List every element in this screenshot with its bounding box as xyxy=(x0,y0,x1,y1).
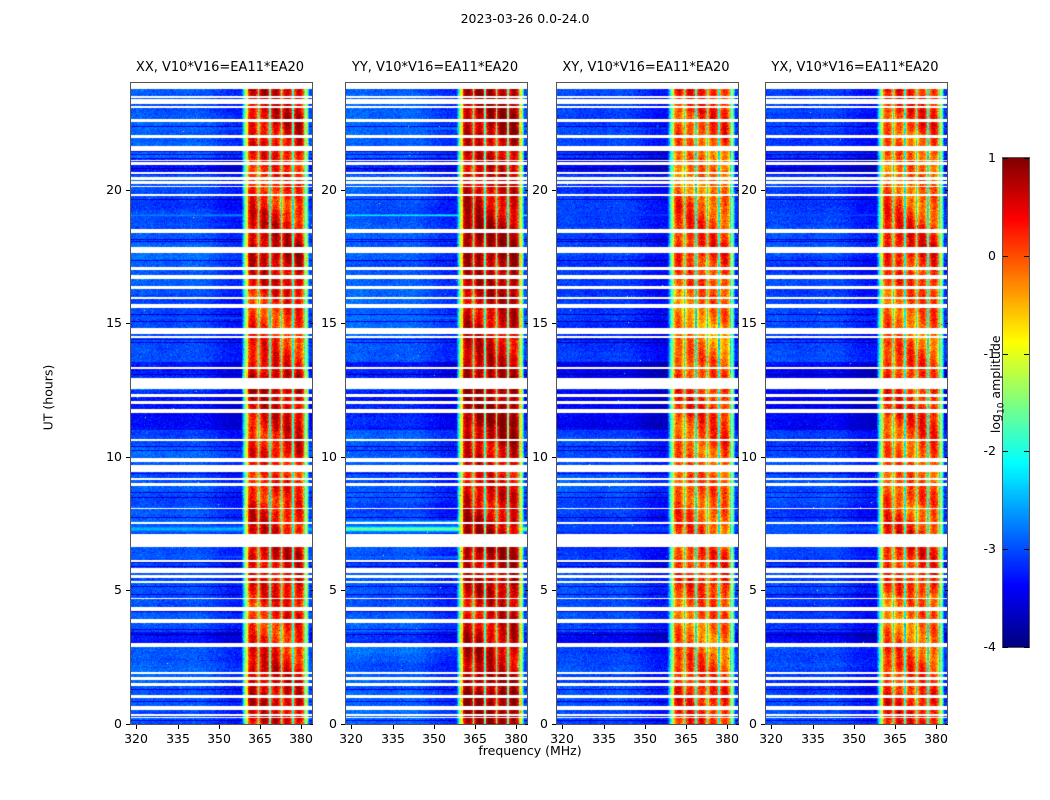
waterfall-panel-xx[interactable] xyxy=(130,82,313,725)
x-tick-label: 350 xyxy=(623,731,667,746)
x-tick-mark xyxy=(771,725,772,729)
x-tick-mark xyxy=(351,725,352,729)
y-tick-label: 10 xyxy=(713,449,757,464)
colorbar-tick-mark xyxy=(1003,354,1008,355)
x-tick-mark xyxy=(686,725,687,729)
x-tick-mark xyxy=(434,725,435,729)
y-tick-mark xyxy=(126,190,130,191)
y-tick-label: 20 xyxy=(78,182,122,197)
y-tick-mark xyxy=(761,190,765,191)
y-tick-label: 5 xyxy=(713,582,757,597)
colorbar-tick-label: 0 xyxy=(962,248,996,263)
figure-canvas: 2023-03-26 0.0-24.0 XX, V10*V16=EA11*EA2… xyxy=(0,0,1050,800)
y-tick-label: 20 xyxy=(713,182,757,197)
x-tick-label: 365 xyxy=(873,731,917,746)
x-tick-mark xyxy=(260,725,261,729)
colorbar-tick-mark-right xyxy=(1024,647,1029,648)
colorbar-tick-mark-right xyxy=(1024,354,1029,355)
y-tick-mark xyxy=(761,323,765,324)
x-tick-label: 335 xyxy=(371,731,415,746)
y-tick-label: 15 xyxy=(504,315,548,330)
colorbar-tick-mark xyxy=(1003,158,1008,159)
y-tick-mark-right xyxy=(945,724,948,725)
panel-title-yy: YY, V10*V16=EA11*EA20 xyxy=(325,60,545,75)
y-tick-mark xyxy=(341,724,345,725)
y-tick-mark xyxy=(761,724,765,725)
panel-title-yx: YX, V10*V16=EA11*EA20 xyxy=(745,60,965,75)
colorbar-tick-label: -1 xyxy=(962,346,996,361)
y-tick-mark xyxy=(126,724,130,725)
y-tick-mark xyxy=(341,457,345,458)
x-tick-label: 350 xyxy=(412,731,456,746)
colorbar-tick-mark-right xyxy=(1024,451,1029,452)
x-tick-mark xyxy=(178,725,179,729)
y-tick-mark xyxy=(552,457,556,458)
y-axis-label: UT (hours) xyxy=(41,328,56,468)
waterfall-panel-yy[interactable] xyxy=(345,82,528,725)
figure-suptitle: 2023-03-26 0.0-24.0 xyxy=(0,11,1050,26)
x-tick-label: 380 xyxy=(494,731,538,746)
colorbar-tick-mark xyxy=(1003,451,1008,452)
colorbar-tick-mark xyxy=(1003,549,1008,550)
x-tick-label: 380 xyxy=(279,731,323,746)
x-tick-mark xyxy=(854,725,855,729)
y-tick-mark xyxy=(341,590,345,591)
panel-title-xx: XX, V10*V16=EA11*EA20 xyxy=(110,60,330,75)
y-tick-mark xyxy=(126,590,130,591)
y-tick-label: 5 xyxy=(78,582,122,597)
x-tick-mark xyxy=(813,725,814,729)
waterfall-image-yy xyxy=(346,83,527,724)
x-tick-label: 320 xyxy=(540,731,584,746)
y-tick-mark xyxy=(341,190,345,191)
waterfall-image-yx xyxy=(766,83,947,724)
x-tick-mark xyxy=(219,725,220,729)
waterfall-panel-xy[interactable] xyxy=(556,82,739,725)
y-tick-label: 5 xyxy=(293,582,337,597)
waterfall-image-xy xyxy=(557,83,738,724)
colorbar-tick-mark xyxy=(1003,256,1008,257)
y-tick-mark xyxy=(341,323,345,324)
y-tick-label: 10 xyxy=(504,449,548,464)
y-tick-label: 20 xyxy=(504,182,548,197)
y-tick-mark xyxy=(126,323,130,324)
y-tick-mark-right xyxy=(945,457,948,458)
y-tick-label: 0 xyxy=(78,716,122,731)
x-tick-label: 350 xyxy=(197,731,241,746)
y-tick-label: 10 xyxy=(293,449,337,464)
y-tick-mark xyxy=(761,457,765,458)
y-tick-mark-right xyxy=(945,590,948,591)
x-tick-label: 365 xyxy=(453,731,497,746)
colorbar-tick-mark-right xyxy=(1024,158,1029,159)
x-tick-label: 365 xyxy=(238,731,282,746)
x-tick-label: 335 xyxy=(791,731,835,746)
x-tick-label: 350 xyxy=(832,731,876,746)
x-tick-mark xyxy=(604,725,605,729)
x-tick-label: 380 xyxy=(705,731,749,746)
colorbar-tick-label: -2 xyxy=(962,443,996,458)
y-tick-mark xyxy=(761,590,765,591)
y-tick-label: 5 xyxy=(504,582,548,597)
y-tick-mark xyxy=(552,190,556,191)
waterfall-panel-yx[interactable] xyxy=(765,82,948,725)
colorbar-tick-label: -3 xyxy=(962,541,996,556)
colorbar-gradient xyxy=(1003,158,1029,647)
x-tick-label: 320 xyxy=(749,731,793,746)
x-tick-mark xyxy=(895,725,896,729)
x-tick-label: 380 xyxy=(914,731,958,746)
colorbar-tick-mark-right xyxy=(1024,256,1029,257)
y-tick-mark xyxy=(552,590,556,591)
colorbar-tick-label: -4 xyxy=(962,639,996,654)
y-tick-mark-right xyxy=(945,190,948,191)
x-tick-mark xyxy=(393,725,394,729)
y-tick-label: 15 xyxy=(713,315,757,330)
waterfall-image-xx xyxy=(131,83,312,724)
y-tick-label: 15 xyxy=(293,315,337,330)
x-tick-mark xyxy=(645,725,646,729)
y-tick-label: 0 xyxy=(713,716,757,731)
x-tick-mark xyxy=(475,725,476,729)
y-tick-label: 15 xyxy=(78,315,122,330)
y-tick-mark xyxy=(126,457,130,458)
y-tick-mark-right xyxy=(945,323,948,324)
y-tick-label: 20 xyxy=(293,182,337,197)
y-tick-mark xyxy=(552,724,556,725)
y-tick-label: 0 xyxy=(504,716,548,731)
x-tick-label: 320 xyxy=(114,731,158,746)
x-tick-label: 335 xyxy=(582,731,626,746)
x-tick-label: 320 xyxy=(329,731,373,746)
x-tick-label: 335 xyxy=(156,731,200,746)
y-tick-mark xyxy=(552,323,556,324)
colorbar-tick-label: 1 xyxy=(962,150,996,165)
x-tick-mark xyxy=(562,725,563,729)
panel-title-xy: XY, V10*V16=EA11*EA20 xyxy=(536,60,756,75)
x-tick-label: 365 xyxy=(664,731,708,746)
colorbar-tick-mark xyxy=(1003,647,1008,648)
x-tick-mark xyxy=(936,725,937,729)
colorbar-tick-mark-right xyxy=(1024,549,1029,550)
x-tick-mark xyxy=(136,725,137,729)
y-tick-label: 0 xyxy=(293,716,337,731)
y-tick-label: 10 xyxy=(78,449,122,464)
